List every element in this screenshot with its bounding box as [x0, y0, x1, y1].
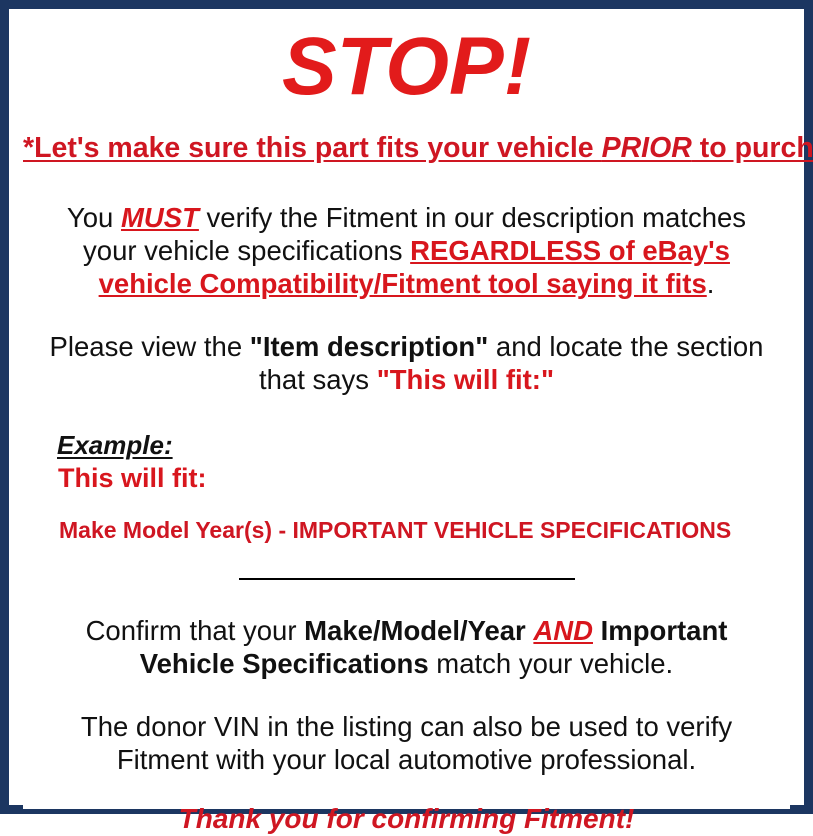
this-will-fit-emphasis: "This will fit:": [377, 364, 554, 395]
must-emphasis: MUST: [121, 202, 199, 233]
subtitle-before: *Let's make sure this part fits your veh…: [23, 132, 602, 164]
must-seg-3: .: [707, 268, 715, 299]
must-verify-paragraph: You MUST verify the Fitment in our descr…: [23, 201, 790, 300]
section-divider-wrap: [23, 570, 790, 588]
confirm-seg-3: [593, 615, 601, 646]
subtitle-banner: *Let's make sure this part fits your veh…: [23, 131, 790, 165]
confirm-seg-1: Confirm that your: [86, 615, 305, 646]
must-seg-1: You: [67, 202, 121, 233]
make-model-year-emphasis: Make/Model/Year: [304, 615, 526, 646]
section-divider: [239, 578, 575, 580]
confirm-paragraph: Confirm that your Make/Model/Year AND Im…: [23, 614, 790, 680]
example-block: Example: This will fit: Make Model Year(…: [23, 430, 790, 544]
please-seg-1: Please view the: [50, 331, 250, 362]
item-description-emphasis: "Item description": [250, 331, 488, 362]
item-description-paragraph: Please view the "Item description" and l…: [23, 330, 790, 396]
notice-inner: STOP! *Let's make sure this part fits yo…: [23, 23, 790, 809]
example-fit-heading: This will fit:: [57, 462, 790, 494]
subtitle-after: to purchasing*: [692, 132, 813, 164]
donor-vin-paragraph: The donor VIN in the listing can also be…: [23, 710, 790, 776]
example-spec-line: Make Model Year(s) - IMPORTANT VEHICLE S…: [57, 516, 790, 544]
page-title: STOP!: [23, 23, 790, 111]
fitment-notice-frame: STOP! *Let's make sure this part fits yo…: [0, 0, 813, 814]
and-emphasis: AND: [533, 615, 593, 646]
confirm-seg-4: match your vehicle.: [429, 648, 674, 679]
subtitle-emphasis-prior: PRIOR: [602, 132, 692, 164]
thank-you-line: Thank you for confirming Fitment!: [23, 802, 790, 836]
example-label: Example:: [57, 430, 790, 460]
